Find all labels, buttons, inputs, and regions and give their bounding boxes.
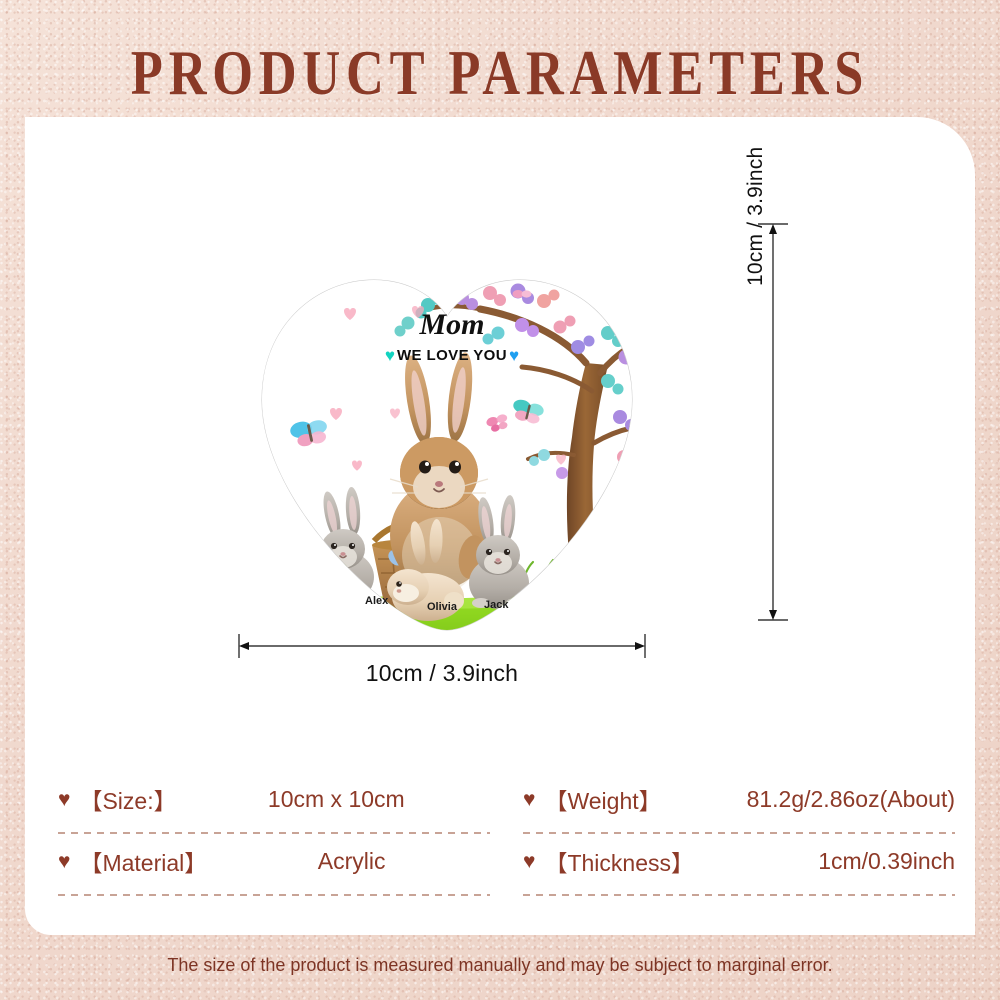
- spec-value-thickness: 1cm/0.39inch: [694, 848, 955, 875]
- product-image: Mom ♥ WE LOVE YOU ♥ Alex Olivia Jack: [222, 205, 672, 645]
- heart-icon-left: ♥: [385, 347, 395, 364]
- spec-value-weight: 81.2g/2.86oz(About): [662, 786, 955, 813]
- plaque-subtitle-row: ♥ WE LOVE YOU ♥: [362, 347, 542, 364]
- heart-bullet-icon: ♥: [523, 789, 535, 810]
- width-dimension-line: [236, 634, 648, 660]
- plaque-face: [222, 205, 672, 645]
- bunny-name-label: Olivia: [427, 601, 457, 613]
- product-parameters-page: PRODUCT PARAMETERS: [0, 0, 1000, 1000]
- spec-label-thickness: 【Thickness】: [544, 844, 694, 878]
- row-divider: [58, 894, 490, 896]
- spec-column-right: ♥ 【Weight】 81.2g/2.86oz(About) ♥ 【Thickn…: [523, 772, 955, 896]
- measurement-disclaimer: The size of the product is measured manu…: [0, 955, 1000, 976]
- heart-bullet-icon: ♥: [58, 789, 70, 810]
- heart-bullet-icon: ♥: [523, 851, 535, 872]
- acrylic-heart-plaque: Mom ♥ WE LOVE YOU ♥ Alex Olivia Jack: [222, 205, 672, 645]
- spec-row-thickness: ♥ 【Thickness】 1cm/0.39inch: [523, 834, 955, 896]
- spec-column-left: ♥ 【Size:】 10cm x 10cm ♥ 【Material】 Acryl…: [58, 772, 490, 896]
- spec-label-weight: 【Weight】: [544, 782, 661, 816]
- spec-label-material: 【Material】: [79, 844, 207, 878]
- width-dimension-label: 10cm / 3.9inch: [236, 660, 648, 687]
- page-title: PRODUCT PARAMETERS: [90, 36, 910, 110]
- plaque-subtitle: WE LOVE YOU: [397, 347, 507, 364]
- heart-icon-right: ♥: [509, 347, 519, 364]
- plaque-illustration: [222, 205, 672, 645]
- spec-value-material: Acrylic: [207, 848, 490, 875]
- heart-bullet-icon: ♥: [58, 851, 70, 872]
- spec-row-material: ♥ 【Material】 Acrylic: [58, 834, 490, 896]
- plaque-title: Mom: [372, 308, 532, 342]
- bunny-name-label: Alex: [365, 595, 388, 607]
- spec-label-size: 【Size:】: [79, 782, 176, 816]
- spec-row-size: ♥ 【Size:】 10cm x 10cm: [58, 772, 490, 834]
- spec-value-size: 10cm x 10cm: [177, 786, 490, 813]
- row-divider: [523, 894, 955, 896]
- bunny-name-label: Jack: [484, 599, 508, 611]
- spec-row-weight: ♥ 【Weight】 81.2g/2.86oz(About): [523, 772, 955, 834]
- height-dimension-label: 10cm / 3.9inch: [744, 6, 768, 286]
